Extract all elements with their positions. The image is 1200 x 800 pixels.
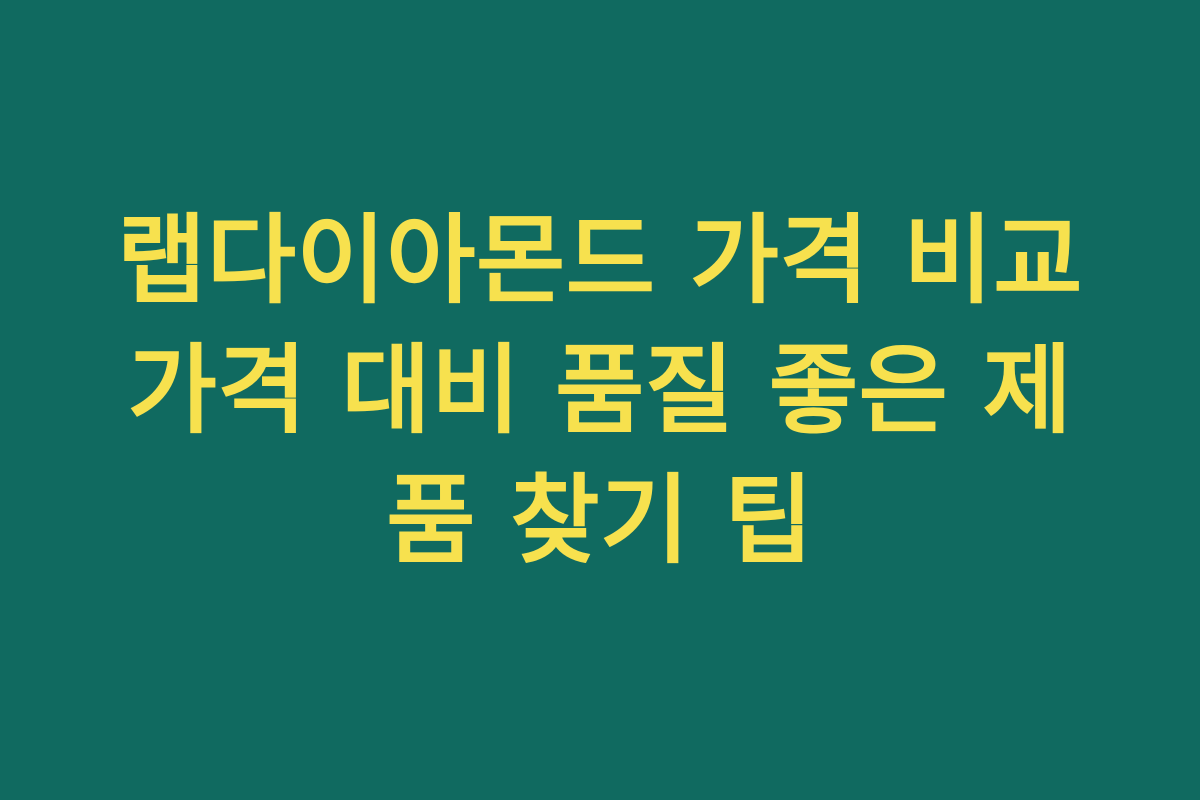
title-line-2: 가격 대비 품질 좋은 제 (50, 326, 1150, 456)
title-line-3: 품 찾기 팁 (50, 456, 1150, 586)
thumbnail-card: 랩다이아몬드 가격 비교 가격 대비 품질 좋은 제 품 찾기 팁 (0, 0, 1200, 800)
title-line-1: 랩다이아몬드 가격 비교 (50, 196, 1150, 326)
title-block: 랩다이아몬드 가격 비교 가격 대비 품질 좋은 제 품 찾기 팁 (50, 196, 1150, 586)
